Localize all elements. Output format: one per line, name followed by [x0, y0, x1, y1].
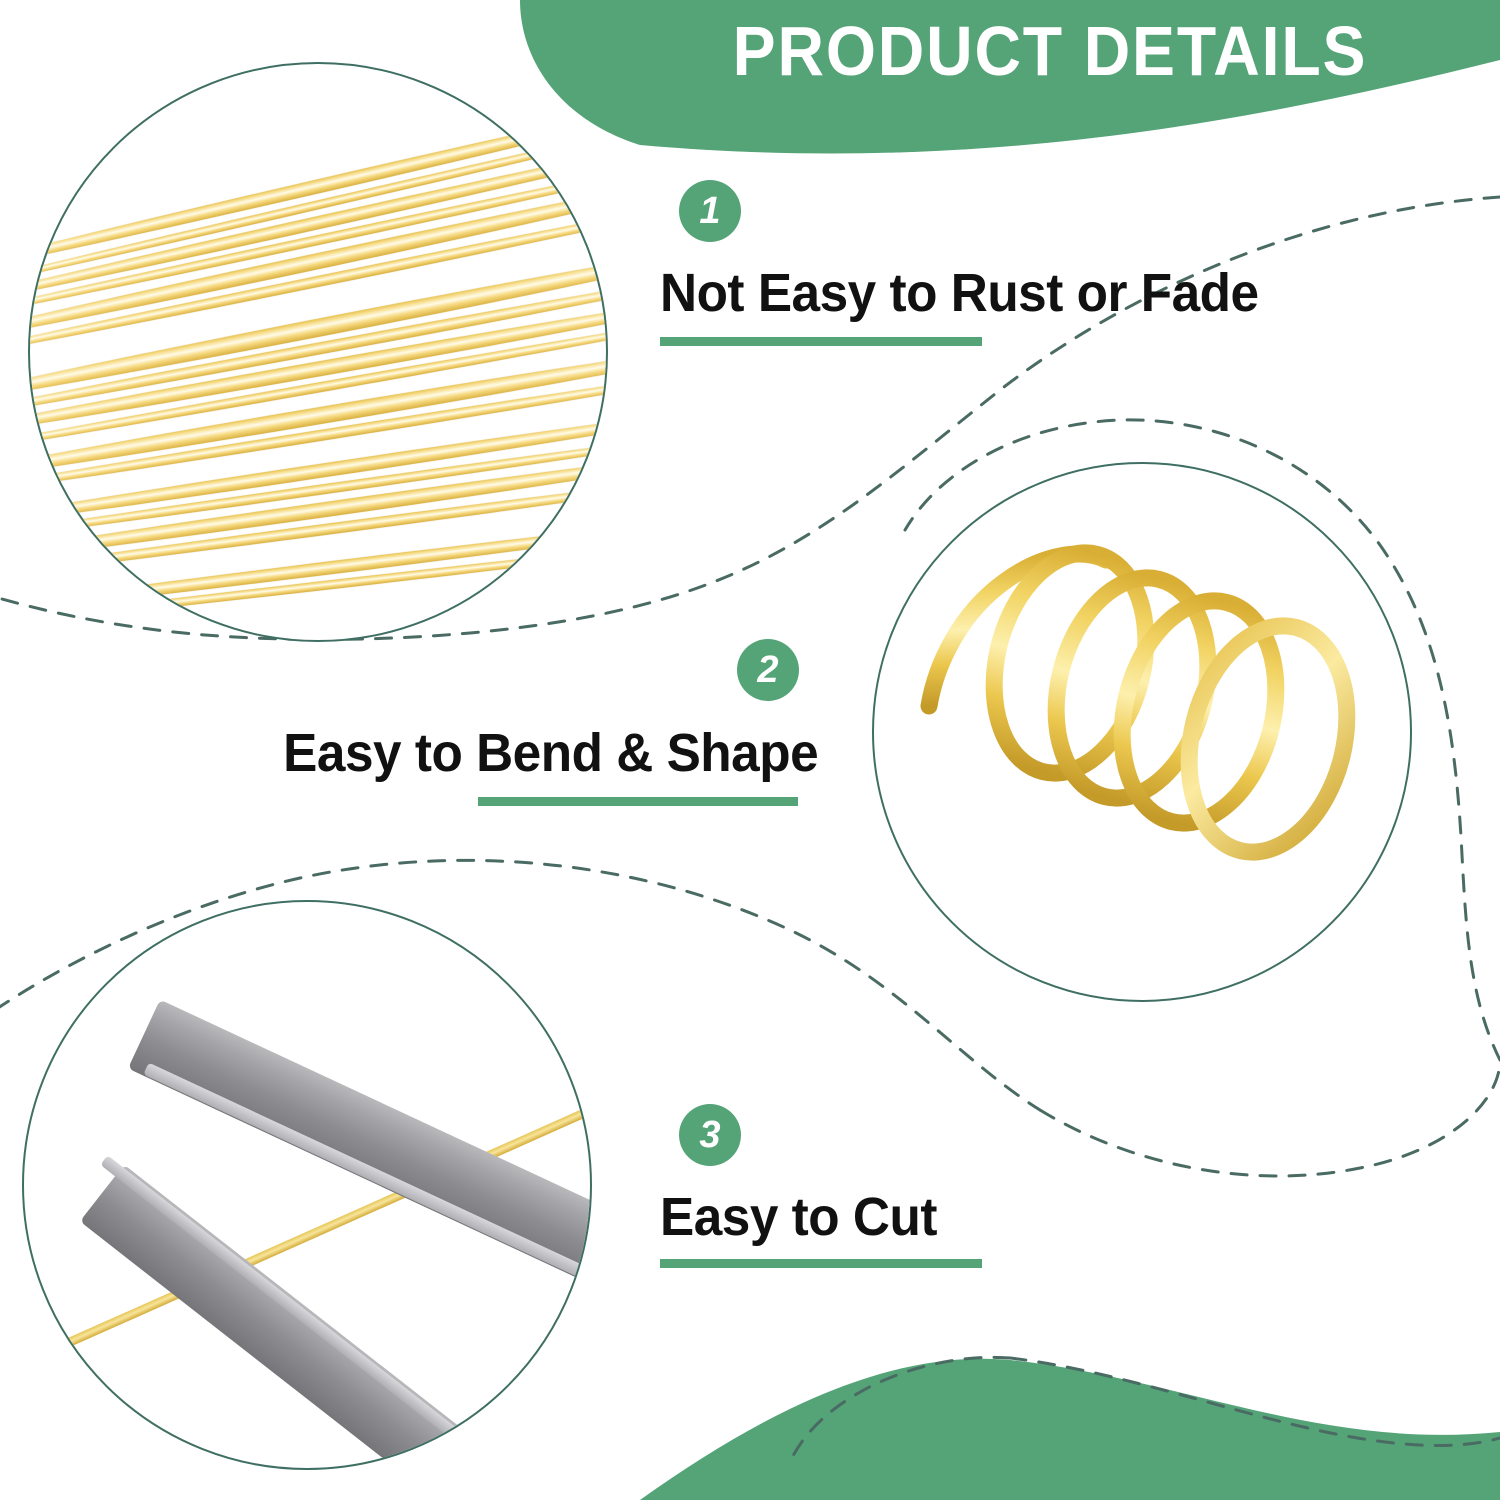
feature-3-title: Easy to Cut — [660, 1186, 937, 1248]
feature-1-rule — [660, 337, 982, 346]
coiled-gold-wire-spiral-photo — [872, 462, 1412, 1002]
scissors-scene — [24, 902, 590, 1468]
feature-1-title: Not Easy to Rust or Fade — [660, 262, 1259, 324]
feature-3-badge: 3 — [679, 1104, 741, 1166]
feature-3-rule — [660, 1259, 982, 1268]
feature-2-rule — [478, 797, 798, 806]
gold-wire-strands-photo — [28, 62, 608, 642]
feature-2-title: Easy to Bend & Shape — [283, 722, 818, 784]
page-title: PRODUCT DETAILS — [654, 6, 1445, 96]
wire-strands-group — [30, 64, 606, 640]
product-details-infographic: PRODUCT DETAILS 1 Not Easy to Rust or F — [0, 0, 1500, 1500]
spiral-coil-drawing — [874, 464, 1412, 1002]
feature-1-badge: 1 — [679, 180, 741, 242]
footer-green-blob — [640, 1359, 1500, 1500]
feature-2-badge: 2 — [737, 639, 799, 701]
scissors-cutting-gold-wire-photo — [22, 900, 592, 1470]
dashed-curve-bottom — [1040, 1060, 1500, 1176]
